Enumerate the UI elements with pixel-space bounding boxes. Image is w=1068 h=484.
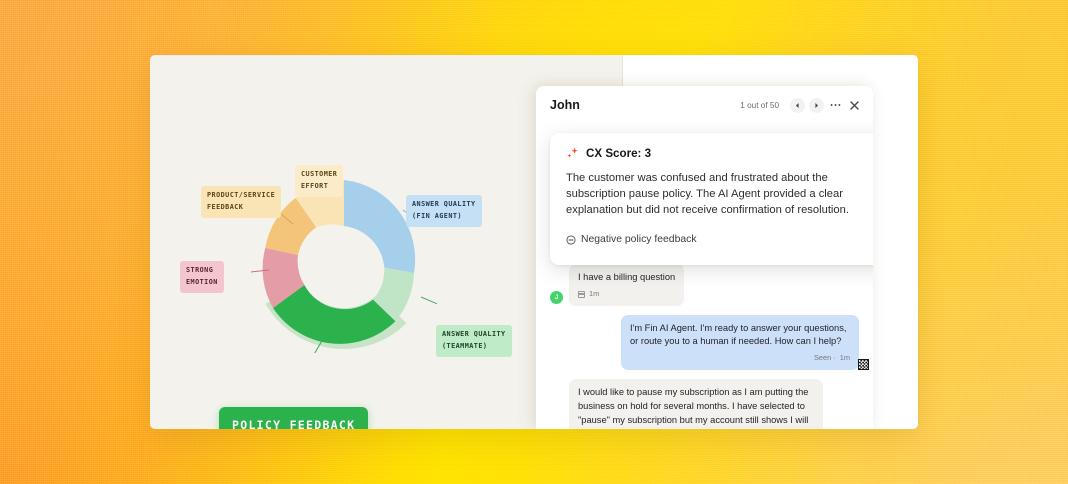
topic-breakdown-chart: ANSWER QUALITY (FIN AGENT) ANSWER QUALIT… bbox=[150, 55, 540, 429]
message-text: I'm Fin AI Agent. I'm ready to answer yo… bbox=[630, 322, 850, 350]
cx-score-summary: The customer was confused and frustrated… bbox=[566, 171, 873, 219]
chevron-right-icon bbox=[813, 102, 820, 109]
conversation-panel: John 1 out of 50 bbox=[536, 86, 873, 429]
chart-label-policy-feedback[interactable]: POLICY FEEDBACK bbox=[219, 407, 368, 429]
message-text: I have a billing question bbox=[578, 271, 675, 285]
leader-line-teammate bbox=[421, 297, 437, 308]
message-row: J I have a billing question 1m bbox=[550, 264, 859, 306]
avatar: J bbox=[550, 291, 563, 304]
sparkle-icon bbox=[566, 147, 579, 160]
message-row: I'm Fin AI Agent. I'm ready to answer yo… bbox=[550, 315, 859, 370]
pager-count: 1 out of 50 bbox=[740, 101, 779, 110]
message-bubble-incoming[interactable]: I have a billing question 1m bbox=[569, 264, 684, 306]
cx-score-title: CX Score: 3 bbox=[586, 147, 651, 160]
channel-icon bbox=[578, 291, 585, 298]
message-time: 1m bbox=[589, 289, 599, 300]
message-bubble-incoming[interactable]: I would like to pause my subscription as… bbox=[569, 379, 823, 429]
chart-label-customer-effort[interactable]: CUSTOMER EFFORT bbox=[295, 165, 343, 197]
conversation-header: John 1 out of 50 bbox=[536, 86, 873, 124]
cx-score-card: CX Score: 3 The customer was confused an… bbox=[550, 133, 873, 265]
next-conversation-button[interactable] bbox=[809, 98, 824, 113]
cx-score-header: CX Score: 3 bbox=[566, 147, 873, 160]
message-thread[interactable]: J I have a billing question 1m I'm Fin A… bbox=[536, 264, 873, 429]
cx-score-tag[interactable]: Negative policy feedback bbox=[566, 234, 697, 245]
close-panel-button[interactable] bbox=[847, 98, 862, 113]
chart-label-answer-quality-fin-agent[interactable]: ANSWER QUALITY (FIN AGENT) bbox=[406, 195, 482, 227]
message-row: J I would like to pause my subscription … bbox=[550, 379, 859, 429]
conversation-title: John bbox=[550, 98, 740, 112]
message-bubble-outgoing[interactable]: I'm Fin AI Agent. I'm ready to answer yo… bbox=[621, 315, 859, 370]
message-text: I would like to pause my subscription as… bbox=[578, 386, 814, 429]
cx-score-tag-label: Negative policy feedback bbox=[581, 234, 697, 245]
agent-badge-icon bbox=[858, 359, 869, 370]
chart-label-answer-quality-teammate[interactable]: ANSWER QUALITY (TEAMMATE) bbox=[436, 325, 512, 357]
chevron-left-icon bbox=[794, 102, 801, 109]
message-status: Seen · bbox=[814, 353, 836, 364]
more-options-button[interactable] bbox=[828, 98, 843, 113]
app-window-card: ANSWER QUALITY (FIN AGENT) ANSWER QUALIT… bbox=[150, 55, 918, 429]
chart-label-strong-emotion[interactable]: STRONG EMOTION bbox=[180, 261, 224, 293]
outgoing-bubble-wrap: I'm Fin AI Agent. I'm ready to answer yo… bbox=[621, 315, 859, 370]
message-meta: 1m bbox=[578, 289, 675, 300]
minus-circle-icon bbox=[566, 235, 576, 245]
chart-label-product-service-feedback[interactable]: PRODUCT/SERVICE FEEDBACK bbox=[201, 186, 281, 218]
ellipsis-icon bbox=[830, 103, 841, 107]
message-time: 1m bbox=[840, 353, 850, 364]
message-meta: Seen · 1m bbox=[630, 353, 850, 364]
previous-conversation-button[interactable] bbox=[790, 98, 805, 113]
close-icon bbox=[850, 101, 859, 110]
